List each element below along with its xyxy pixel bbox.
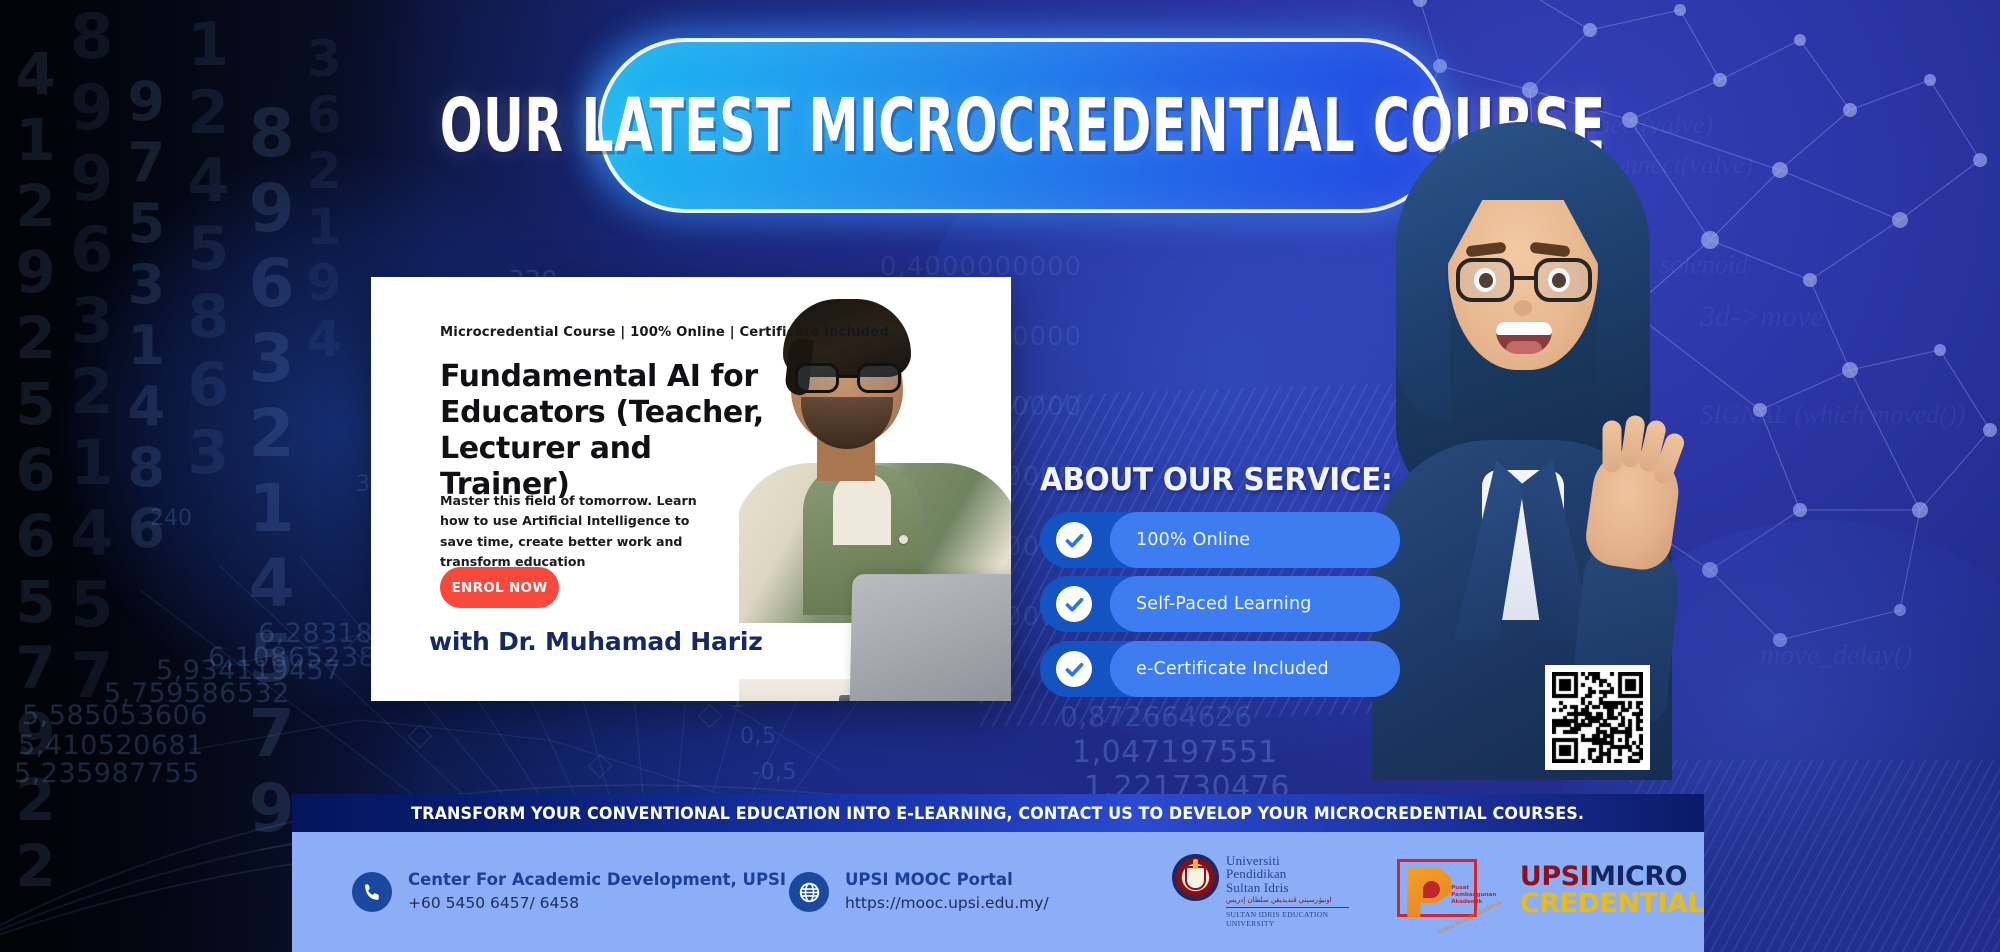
service-pill: 100% Online bbox=[1110, 512, 1400, 568]
service-item-online[interactable]: 100% Online bbox=[1040, 512, 1400, 568]
ppa-line2: Pembangunan bbox=[1451, 892, 1496, 899]
service-label: e-Certificate Included bbox=[1136, 659, 1329, 679]
microcredential-upsi: UPSI bbox=[1520, 861, 1589, 892]
service-pill: Self-Paced Learning bbox=[1110, 576, 1400, 632]
student-beard bbox=[801, 397, 893, 449]
logo-upsi: Universiti Pendidikan Sultan Idris اونيۏ… bbox=[1172, 854, 1349, 928]
logo-ppa: Pusat Pembangunan Akademik Raksa Siswaji… bbox=[1395, 855, 1474, 927]
tagline-text: TRANSFORM YOUR CONVENTIONAL EDUCATION IN… bbox=[412, 804, 1585, 823]
course-description: Master this field of tomorrow. Learn how… bbox=[440, 491, 702, 573]
course-kicker: Microcredential Course | 100% Online | C… bbox=[440, 325, 860, 340]
phone-icon bbox=[352, 872, 392, 912]
service-label: 100% Online bbox=[1136, 530, 1250, 550]
globe-icon bbox=[789, 872, 829, 912]
tongue bbox=[1506, 341, 1542, 354]
code-fragment: SIGNAL (which moved()) bbox=[1700, 400, 1965, 430]
ppa-line1: Pusat bbox=[1451, 885, 1496, 892]
jacket-button bbox=[899, 535, 908, 544]
microcredential-top: UPSIMICRO bbox=[1520, 865, 1704, 890]
logo-microcredential: UPSIMICRO CREDENTIAL bbox=[1520, 865, 1704, 918]
upsi-wordmark: Universiti Pendidikan Sultan Idris اونيۏ… bbox=[1226, 854, 1349, 928]
contact-phone[interactable]: Center For Academic Development, UPSI +6… bbox=[352, 870, 786, 914]
service-item-ecertificate[interactable]: e-Certificate Included bbox=[1040, 641, 1400, 697]
course-title: Fundamental AI for Educators (Teacher, L… bbox=[440, 359, 770, 503]
teeth bbox=[1496, 322, 1552, 335]
check-icon bbox=[1056, 522, 1092, 558]
digit-column: 1245863 bbox=[180, 10, 236, 486]
contact-value: +60 5450 6457/ 6458 bbox=[408, 893, 786, 915]
service-pill: e-Certificate Included bbox=[1110, 641, 1400, 697]
contact-title: Center For Academic Development, UPSI bbox=[408, 870, 786, 891]
enrol-button-label: ENROL NOW bbox=[451, 580, 547, 596]
glasses-icon bbox=[1456, 258, 1592, 302]
upsi-line2: Pendidikan bbox=[1226, 867, 1349, 880]
digit-column: 362194 bbox=[300, 30, 347, 366]
qr-code[interactable] bbox=[1545, 665, 1650, 770]
title-pill: OUR LATEST MICROCREDENTIAL COURSE bbox=[598, 38, 1448, 213]
upsi-arabic: اونيۏرسيتي ڤنديديقن سلطان إدريس bbox=[1226, 896, 1349, 904]
upsi-english: SULTAN IDRIS EDUCATION UNIVERSITY bbox=[1226, 907, 1349, 928]
contact-title: UPSI MOOC Portal bbox=[845, 870, 1049, 891]
laptop-icon bbox=[850, 574, 1011, 701]
microcredential-credential: CREDENTIAL bbox=[1520, 892, 1704, 917]
course-card[interactable]: Microcredential Course | 100% Online | C… bbox=[371, 277, 1011, 701]
footer-panel: Center For Academic Development, UPSI +6… bbox=[292, 832, 1704, 952]
footer-logos: Universiti Pendidikan Sultan Idris اونيۏ… bbox=[1172, 854, 1704, 928]
service-label: Self-Paced Learning bbox=[1136, 594, 1312, 614]
about-service-heading: ABOUT OUR SERVICE: bbox=[1040, 462, 1393, 498]
student-glasses-icon bbox=[795, 363, 901, 393]
banner-stage: 4129256657922 8996321457 97531486 124586… bbox=[0, 0, 2000, 952]
code-fragment: 3d->move bbox=[1700, 300, 1824, 334]
contact-portal[interactable]: UPSI MOOC Portal https://mooc.upsi.edu.m… bbox=[789, 870, 1049, 914]
upsi-crest-icon bbox=[1172, 854, 1219, 901]
contact-phone-text: Center For Academic Development, UPSI +6… bbox=[408, 870, 786, 914]
student-inner-shirt bbox=[833, 473, 891, 545]
check-icon bbox=[1056, 586, 1092, 622]
course-instructor: with Dr. Muhamad Hariz bbox=[429, 627, 763, 656]
contact-portal-text: UPSI MOOC Portal https://mooc.upsi.edu.m… bbox=[845, 870, 1049, 914]
nose bbox=[1514, 300, 1532, 316]
enrol-now-button[interactable]: ENROL NOW bbox=[440, 567, 559, 608]
microcredential-micro: MICRO bbox=[1589, 861, 1687, 892]
course-photo bbox=[739, 277, 1011, 701]
upsi-line1: Universiti bbox=[1226, 854, 1349, 867]
contact-value: https://mooc.upsi.edu.my/ bbox=[845, 893, 1049, 915]
code-fragment: move_delay() bbox=[1760, 640, 1912, 672]
tagline-bar: TRANSFORM YOUR CONVENTIONAL EDUCATION IN… bbox=[292, 794, 1704, 832]
upsi-line3: Sultan Idris bbox=[1226, 881, 1349, 894]
service-item-self-paced[interactable]: Self-Paced Learning bbox=[1040, 576, 1400, 632]
check-icon bbox=[1056, 651, 1092, 687]
banner-title-container: OUR LATEST MICROCREDENTIAL COURSE bbox=[598, 38, 1448, 213]
